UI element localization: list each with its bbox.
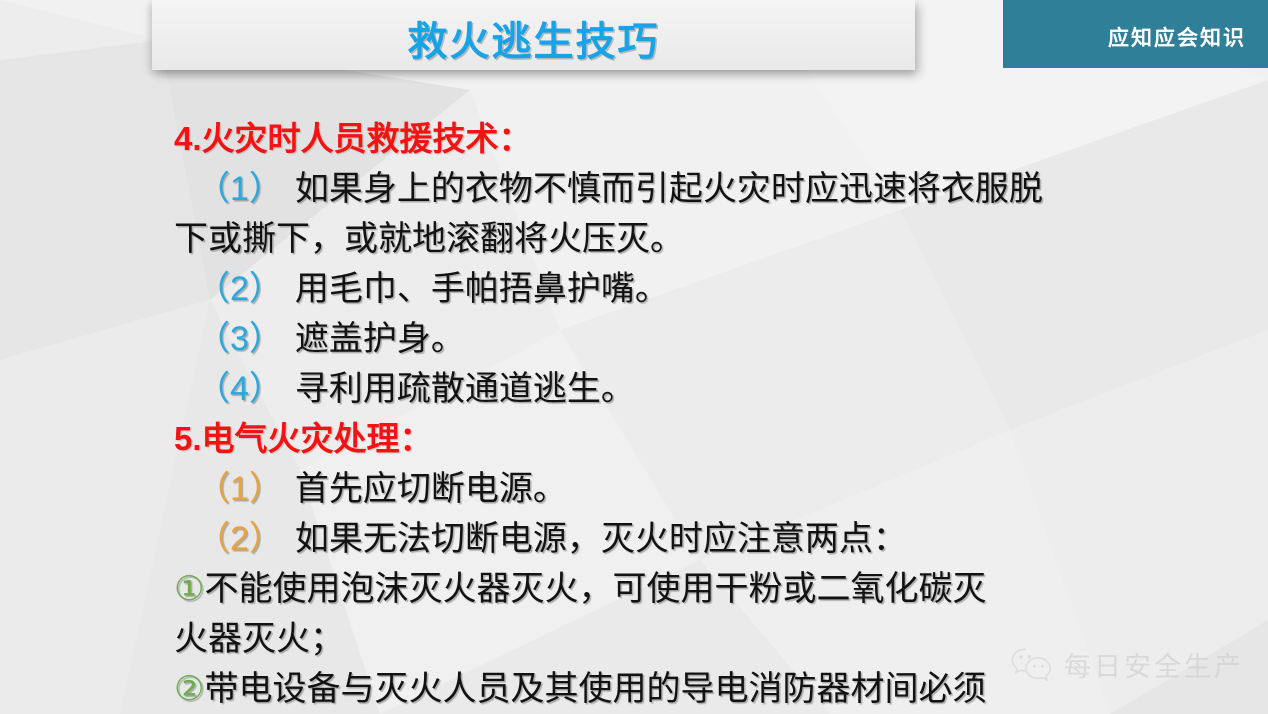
list-item-text: 用毛巾、手帕捂鼻护嘴。 — [295, 270, 669, 308]
list-item-marker: （3） — [196, 320, 283, 358]
numbered-list-item: （2）如果无法切断电源，灭火时应注意两点： — [174, 514, 1074, 564]
section-heading-text: 4.火灾时人员救援技术： — [174, 120, 532, 157]
page-title: 救火逃生技巧 — [152, 9, 915, 67]
numbered-list-item: （1）首先应切断电源。 — [174, 464, 1074, 514]
list-item-text: 如果身上的衣物不慎而引起火灾时应迅速将衣服脱 — [295, 170, 1043, 208]
continuation-line: 火器灭火； — [174, 614, 1074, 664]
watermark-label: 每日安全生产 — [1064, 645, 1244, 684]
numbered-list-item: （4）寻利用疏散通道逃生。 — [174, 364, 1074, 414]
content-body: 4.火灾时人员救援技术：（1）如果身上的衣物不慎而引起火灾时应迅速将衣服脱下或撕… — [174, 114, 1074, 714]
circled-list-item: ①不能使用泡沫灭火器灭火，可使用干粉或二氧化碳灭 — [174, 564, 1074, 614]
numbered-list-item: （3）遮盖护身。 — [174, 314, 1074, 364]
section-heading: 4.火灾时人员救援技术： — [174, 114, 1074, 164]
list-item-text: 寻利用疏散通道逃生。 — [295, 370, 635, 408]
corner-badge: 应知应会知识 — [1003, 0, 1268, 68]
numbered-list-item: （1）如果身上的衣物不慎而引起火灾时应迅速将衣服脱 — [174, 164, 1074, 214]
numbered-list-item: （2）用毛巾、手帕捂鼻护嘴。 — [174, 264, 1074, 314]
list-item-marker: （4） — [196, 370, 283, 408]
list-item-text: 不能使用泡沫灭火器灭火，可使用干粉或二氧化碳灭 — [204, 570, 986, 608]
list-item-text: 带电设备与灭火人员及其使用的导电消防器材间必须 — [204, 670, 986, 708]
continuation-text: 火器灭火； — [174, 620, 344, 658]
circled-list-item: ②带电设备与灭火人员及其使用的导电消防器材间必须 — [174, 664, 1074, 714]
list-item-text: 首先应切断电源。 — [295, 470, 567, 508]
continuation-text: 下或撕下，或就地滚翻将火压灭。 — [174, 220, 684, 258]
slide-canvas: 救火逃生技巧 应知应会知识 4.火灾时人员救援技术：（1）如果身上的衣物不慎而引… — [0, 0, 1268, 714]
watermark: 每日安全生产 — [1010, 645, 1244, 684]
section-heading: 5.电气火灾处理： — [174, 414, 1074, 464]
continuation-line: 下或撕下，或就地滚翻将火压灭。 — [174, 214, 1074, 264]
list-item-text: 如果无法切断电源，灭火时应注意两点： — [295, 520, 907, 558]
list-item-marker: ② — [174, 670, 204, 708]
list-item-marker: ① — [174, 570, 204, 608]
list-item-marker: （2） — [196, 520, 283, 558]
list-item-marker: （1） — [196, 470, 283, 508]
list-item-marker: （1） — [196, 170, 283, 208]
corner-badge-label: 应知应会知识 — [1108, 22, 1246, 52]
list-item-marker: （2） — [196, 270, 283, 308]
wechat-icon — [1010, 647, 1054, 683]
list-item-text: 遮盖护身。 — [295, 320, 465, 358]
title-panel: 救火逃生技巧 — [152, 0, 915, 70]
section-heading-text: 5.电气火灾处理： — [174, 420, 433, 457]
